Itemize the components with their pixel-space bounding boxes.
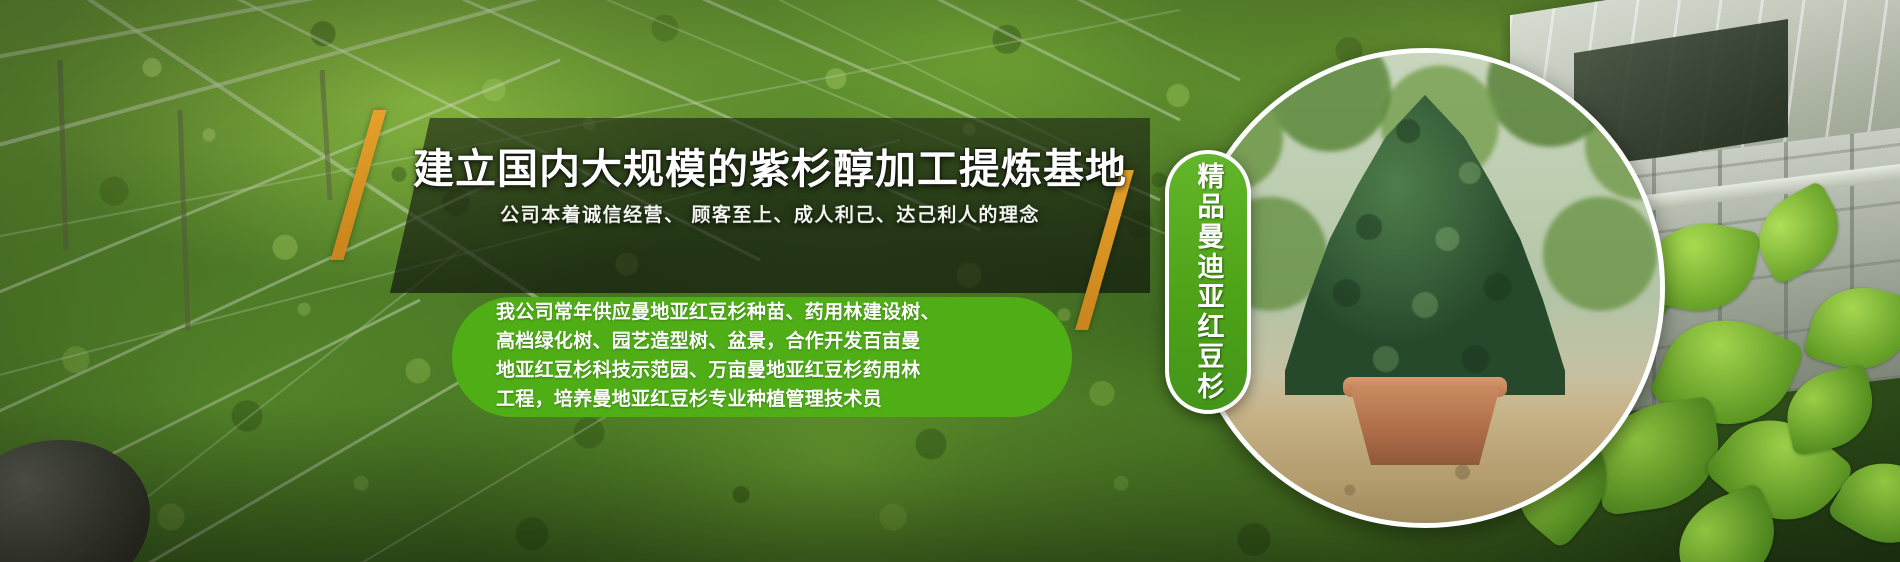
company-description-box: 我公司常年供应曼地亚红豆杉种苗、药用林建设树、 高档绿化树、园艺造型树、盆景，合… [452,297,1072,417]
page-title: 建立国内大规模的紫杉醇加工提炼基地 [390,145,1150,194]
description-line-1: 我公司常年供应曼地亚红豆杉种苗、药用林建设树、 [496,299,940,328]
yew-tree [1285,95,1565,395]
description-line-2: 高档绿化树、园艺造型树、盆景，合作开发百亩曼 [496,328,940,357]
planter-pot [1350,387,1500,465]
subtitle: 公司本着诚信经营、 顾客至上、成人利己、达己利人的理念 [390,200,1150,227]
product-name-label: 精品曼迪亚红豆杉 [1195,162,1222,402]
product-name-pill: 精品曼迪亚红豆杉 [1165,150,1251,414]
promo-banner: 建立国内大规模的紫杉醇加工提炼基地 公司本着诚信经营、 顾客至上、成人利己、达己… [0,0,1900,562]
product-photo-circle [1185,48,1665,528]
description-line-4: 工程，培养曼地亚红豆杉专业种植管理技术员 [496,386,940,415]
yew-foliage [1285,95,1565,395]
description-line-3: 地亚红豆杉科技示范园、万亩曼地亚红豆杉药用林 [496,357,940,386]
company-description-text: 我公司常年供应曼地亚红豆杉种苗、药用林建设树、 高档绿化树、园艺造型树、盆景，合… [496,299,940,415]
